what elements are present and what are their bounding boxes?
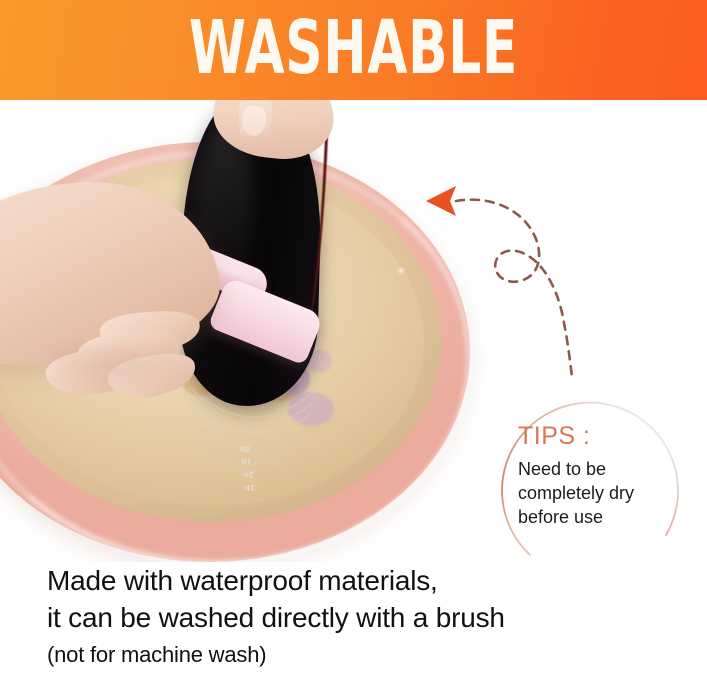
insole-size-label: 2Þ	[242, 470, 253, 479]
dashed-looping-arrow	[420, 165, 620, 390]
tips-title: TIPS :	[518, 424, 703, 449]
insole-size-label: 3Þ	[244, 483, 255, 492]
tips-body: Need to be completely dry before use	[518, 458, 703, 529]
tips-line: completely dry	[518, 482, 703, 506]
product-feature-card: WASHABLE	[0, 0, 707, 699]
insole-size-label: 1Þ	[240, 457, 251, 466]
arrow-dashed-path	[456, 200, 572, 377]
caption-note: (not for machine wash)	[47, 641, 667, 670]
arrowhead-icon	[426, 186, 456, 216]
caption-line-1: Made with waterproof materials,	[47, 563, 667, 600]
tips-callout: TIPS : Need to be completely dry before …	[518, 424, 703, 529]
knuckle-shading	[52, 336, 192, 396]
caption-line-2: it can be washed directly with a brush	[47, 600, 667, 637]
tips-line: before use	[518, 506, 703, 530]
tips-line: Need to be	[518, 458, 703, 482]
page-title: WASHABLE	[106, 0, 601, 100]
caption-block: Made with waterproof materials, it can b…	[47, 563, 667, 670]
water-speck	[398, 268, 404, 273]
header-banner: WASHABLE	[0, 0, 707, 100]
insole-size-label: 0Þ	[239, 444, 250, 453]
